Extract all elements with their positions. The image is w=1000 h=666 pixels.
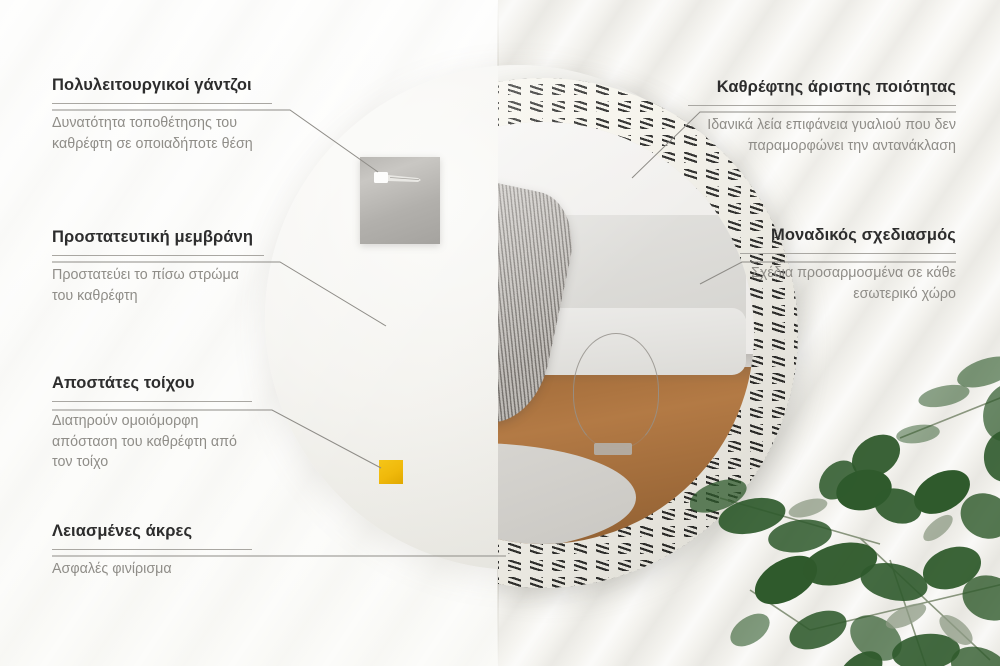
feature-description: Σχέδια προσαρμοσμένα σε κάθε εσωτερικό χ… <box>740 263 956 304</box>
product-feature-infographic: Πολυλειτουργικοί γάντζοι Δυνατότητα τοπο… <box>0 0 1000 666</box>
feature-description: Προστατεύει το πίσω στρώμα του καθρέφτη <box>52 265 264 306</box>
feature-wall-spacers: Αποστάτες τοίχου Διατηρούν ομοιόμορφη απ… <box>52 374 252 473</box>
feature-smoothed-edges: Λειασμένες άκρες Ασφαλές φινίρισμα <box>52 522 252 580</box>
feature-multifunctional-hooks: Πολυλειτουργικοί γάντζοι Δυνατότητα τοπο… <box>52 76 272 154</box>
feature-title: Προστατευτική μεμβράνη <box>52 228 264 248</box>
feature-title: Πολυλειτουργικοί γάντζοι <box>52 76 272 96</box>
feature-top-quality-mirror: Καθρέφτης άριστης ποιότητας Ιδανικά λεία… <box>688 78 956 156</box>
feature-title: Λειασμένες άκρες <box>52 522 252 542</box>
feature-protective-membrane: Προστατευτική μεμβράνη Προστατεύει το πί… <box>52 228 264 306</box>
hook-plate <box>360 157 440 244</box>
feature-rule <box>52 255 264 256</box>
feature-rule <box>52 549 252 550</box>
wall-hook-icon <box>374 171 426 187</box>
feature-description: Δυνατότητα τοποθέτησης του καθρέφτη σε ο… <box>52 113 272 154</box>
plant-leaf-branches <box>690 330 1000 666</box>
feature-description: Ασφαλές φινίρισμα <box>52 559 252 580</box>
feature-title: Καθρέφτης άριστης ποιότητας <box>688 78 956 98</box>
feature-description: Διατηρούν ομοιόμορφη απόσταση του καθρέφ… <box>52 411 252 473</box>
feature-title: Μοναδικός σχεδιασμός <box>740 226 956 246</box>
feature-title: Αποστάτες τοίχου <box>52 374 252 394</box>
feature-rule <box>52 103 272 104</box>
feature-rule <box>740 253 956 254</box>
feature-rule <box>688 105 956 106</box>
feature-description: Ιδανικά λεία επιφάνεια γυαλιού που δεν π… <box>688 115 956 156</box>
spacer-square <box>379 460 403 484</box>
feature-rule <box>52 401 252 402</box>
feature-unique-design: Μοναδικός σχεδιασμός Σχέδια προσαρμοσμέν… <box>740 226 956 304</box>
